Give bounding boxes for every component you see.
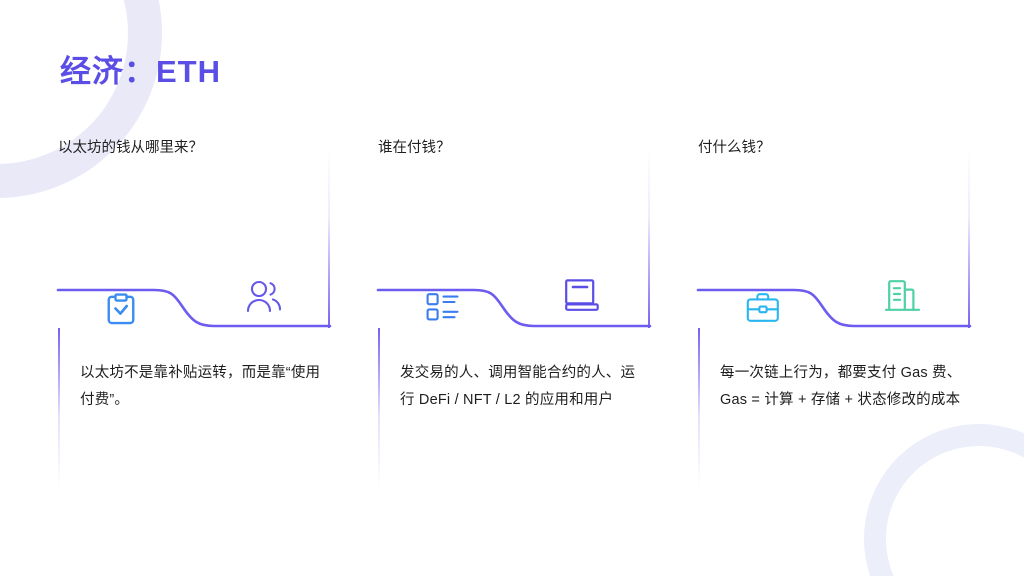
monitor-icon xyxy=(564,278,600,319)
column-rail-left xyxy=(58,328,60,488)
building-icon xyxy=(884,278,922,321)
briefcase-icon xyxy=(746,292,780,329)
list-layout-icon xyxy=(426,292,460,327)
column-swoop-divider xyxy=(378,286,650,342)
column-card-3: 付什么钱？ 每一次链上行为，都要支付 Gas 费、Gas xyxy=(698,138,970,490)
column-rail-left xyxy=(698,328,700,488)
clipboard-check-icon xyxy=(106,292,136,331)
column-card-1: 以太坊的钱从哪里来？ 以太坊不是靠补贴运转，而是靠“使用付费”。 xyxy=(58,138,330,490)
column-body-text: 以太坊不是靠补贴运转，而是靠“使用付费”。 xyxy=(80,360,326,414)
column-heading: 谁在付钱？ xyxy=(378,138,451,158)
users-icon xyxy=(244,278,284,321)
column-heading: 付什么钱？ xyxy=(698,138,771,158)
column-heading: 以太坊的钱从哪里来？ xyxy=(58,138,203,158)
column-body-text: 每一次链上行为，都要支付 Gas 费、Gas = 计算 + 存储 + 状态修改的… xyxy=(720,360,966,414)
page-title: 经济：ETH xyxy=(60,46,221,91)
column-rail-left xyxy=(378,328,380,488)
column-body-text: 发交易的人、调用智能合约的人、运行 DeFi / NFT / L2 的应用和用户 xyxy=(400,360,646,414)
column-swoop-divider xyxy=(698,286,970,342)
column-card-2: 谁在付钱？ 发交易的人、调用智能合约的人、运行 DeFi / NFT / L xyxy=(378,138,650,490)
column-swoop-divider xyxy=(58,286,330,342)
slide-canvas: 经济：ETH 以太坊的钱从哪里来？ 以太坊不是靠补贴运 xyxy=(0,0,1024,576)
